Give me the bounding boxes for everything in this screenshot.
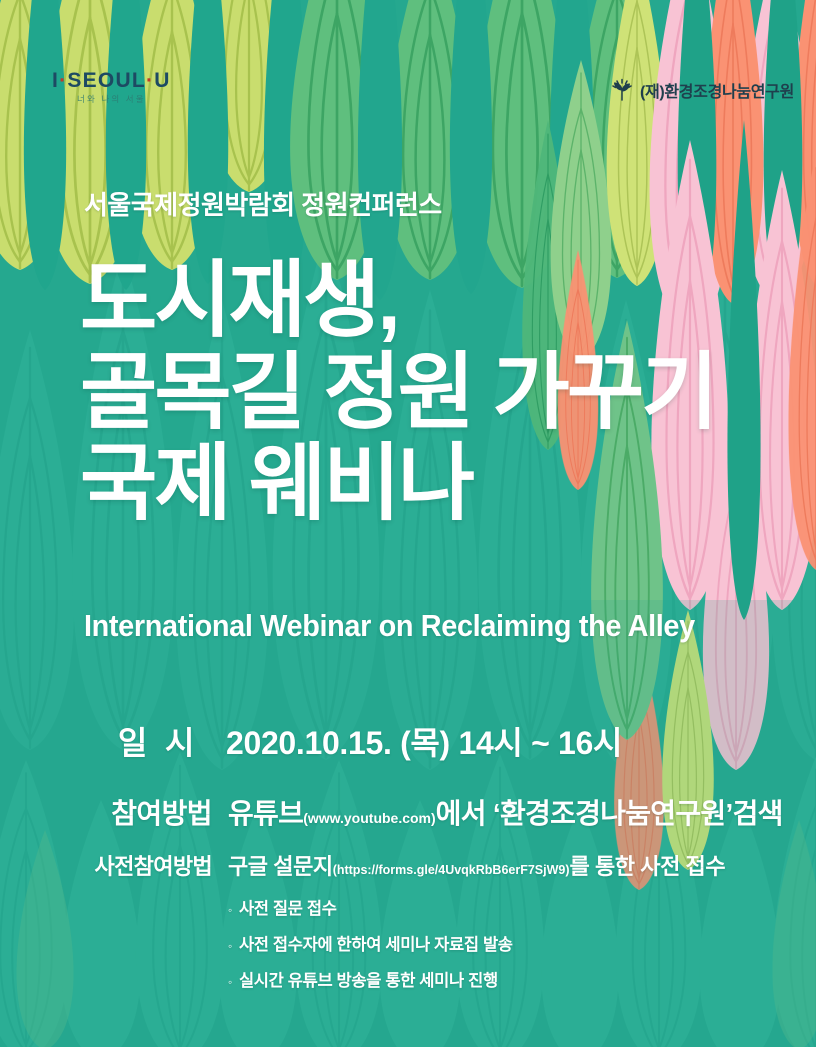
list-item: ◦ 사전 접수자에 한하여 세미나 자료집 발송 [228,931,780,955]
pre-register-value: 구글 설문지(https://forms.gle/4UvqkRbB6erF7Sj… [228,849,725,881]
poster-content: 서울국제정원박람회 정원컨퍼런스 도시재생, 골목길 정원 가꾸기 국제 웨비나… [0,0,816,1047]
join-value-pre: 유튜브 [228,798,303,829]
title-line-3: 국제 웨비나 [80,438,740,530]
event-eyebrow: 서울국제정원박람회 정원컨퍼런스 [84,185,442,222]
info-row-pre-register: 사전참여방법 구글 설문지(https://forms.gle/4UvqkRbB… [80,849,780,881]
list-item: ◦ 실시간 유튜브 방송을 통한 세미나 진행 [228,967,780,991]
pre-register-value-post: 를 통한 사전 접수 [570,854,726,879]
poster-subtitle-english: International Webinar on Reclaiming the … [84,608,695,644]
info-row-date: 일시 2020.10.15. (목) 14시 ~ 16시 [80,718,780,764]
bullet-icon: ◦ [228,904,232,916]
join-label: 참여방법 [80,792,212,832]
note-text: 실시간 유튜브 방송을 통한 세미나 진행 [239,967,498,991]
event-info-block: 일시 2020.10.15. (목) 14시 ~ 16시 참여방법 유튜브(ww… [80,718,780,1003]
list-item: ◦ 사전 질문 접수 [228,895,780,919]
bullet-icon: ◦ [228,976,232,988]
date-label: 일시 [80,718,212,764]
google-form-url[interactable]: (https://forms.gle/4UvqkRbB6erF7SjW9) [333,863,570,877]
title-line-2: 골목길 정원 가꾸기 [80,347,740,439]
note-text: 사전 접수자에 한하여 세미나 자료집 발송 [239,931,513,955]
pre-register-value-pre: 구글 설문지 [228,854,333,879]
poster-root: I·SEOUL·U 너와 나의 서울 (재)환경조경나눔연구원 서울국제정원박람… [0,0,816,1047]
info-row-join-method: 참여방법 유튜브(www.youtube.com)에서 ‘환경조경나눔연구원’검… [80,792,780,832]
bullet-icon: ◦ [228,940,232,952]
notes-list: ◦ 사전 질문 접수 ◦ 사전 접수자에 한하여 세미나 자료집 발송 ◦ 실시… [228,895,780,991]
youtube-url[interactable]: (www.youtube.com) [303,810,435,826]
note-text: 사전 질문 접수 [239,895,337,919]
poster-title: 도시재생, 골목길 정원 가꾸기 국제 웨비나 [80,255,740,530]
join-value-post: 에서 ‘환경조경나눔연구원’검색 [436,798,783,829]
title-line-1: 도시재생, [80,255,740,347]
pre-register-label: 사전참여방법 [80,849,212,881]
join-value: 유튜브(www.youtube.com)에서 ‘환경조경나눔연구원’검색 [228,792,783,832]
date-value: 2020.10.15. (목) 14시 ~ 16시 [226,718,622,764]
